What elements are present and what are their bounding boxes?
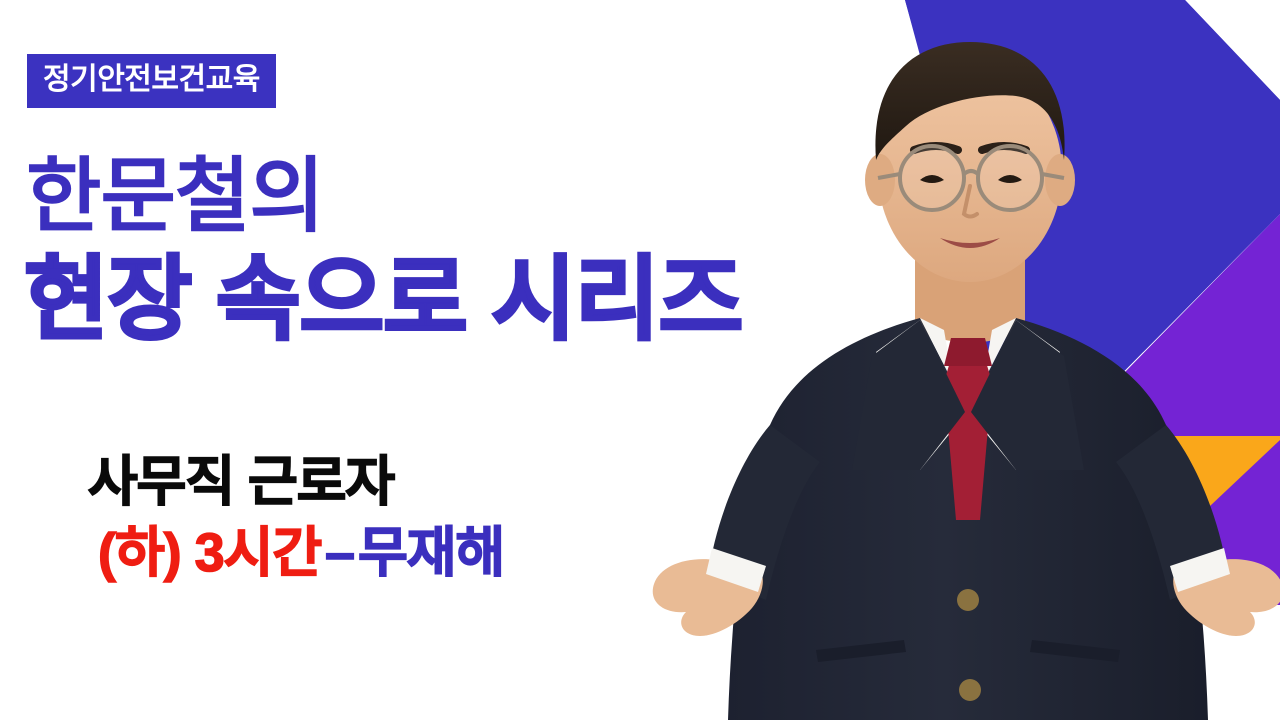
course-safety-label: 무재해 — [358, 523, 504, 583]
indigo-diagonal-band — [905, 0, 1280, 424]
presenter-lapel-left — [852, 320, 965, 470]
presenter-mouth — [940, 238, 1000, 248]
orange-wedge-body — [1058, 434, 1280, 568]
presenter-eyebrow-right — [982, 146, 1026, 150]
presenter-eye-left — [920, 175, 944, 183]
video-thumbnail: 정기안전보건교육 한문철의 현장 속으로 시리즈 사무직 근로자 (하) 3시간… — [0, 0, 1280, 720]
presenter-tie — [944, 352, 992, 520]
presenter-eyebrow-left — [914, 146, 958, 150]
indigo-band-overlay — [905, 0, 1280, 424]
purple-wedge — [1105, 215, 1280, 600]
presenter-hand-right — [1173, 559, 1280, 636]
presenter-glasses-temple-left — [878, 174, 900, 178]
presenter-arm-right — [1116, 425, 1228, 600]
presenter-neck — [915, 245, 1025, 343]
orange-wedge-upper — [1060, 430, 1280, 457]
course-subtitle-line-1: 사무직 근로자 — [88, 455, 394, 509]
series-title-line-1: 한문철의 — [26, 156, 324, 238]
presenter-button-lower — [959, 679, 981, 701]
presenter-shirt-right — [971, 320, 1060, 470]
presenter-nose — [964, 186, 977, 217]
presenter-shirt-left — [876, 320, 965, 470]
presenter-cuff-right — [1170, 548, 1230, 592]
presenter-glasses-left-lens — [900, 146, 964, 210]
presenter-hair — [875, 42, 1064, 160]
series-title-line-2: 현장 속으로 시리즈 — [24, 254, 742, 346]
presenter-eye-right — [998, 175, 1022, 183]
subtitle-dash-separator: – — [321, 523, 358, 583]
course-category-badge: 정기안전보건교육 — [27, 54, 276, 108]
presenter-ear-right — [1045, 154, 1075, 206]
orange-body — [1056, 436, 1262, 568]
presenter-glasses-temple-right — [1042, 174, 1064, 178]
presenter-glasses-bridge — [964, 171, 978, 174]
presenter-tie-knot — [944, 338, 992, 366]
course-subtitle-line-2: (하) 3시간–무재해 — [98, 526, 504, 580]
presenter-glasses-right-lens — [978, 146, 1042, 210]
presenter-button-upper — [957, 589, 979, 611]
course-duration-label: (하) 3시간 — [98, 523, 321, 583]
presenter-pocket-right — [1030, 640, 1120, 662]
title-text-block: 정기안전보건교육 한문철의 현장 속으로 시리즈 사무직 근로자 (하) 3시간… — [0, 0, 830, 720]
presenter-head — [878, 62, 1062, 282]
orange-wedge — [1062, 430, 1280, 565]
orange-body-fill — [1056, 436, 1280, 572]
presenter-ear-left — [865, 154, 895, 206]
presenter-lapel-right — [971, 320, 1084, 470]
purple-wedge-main — [1060, 214, 1280, 605]
presenter-shirt — [920, 318, 1016, 470]
